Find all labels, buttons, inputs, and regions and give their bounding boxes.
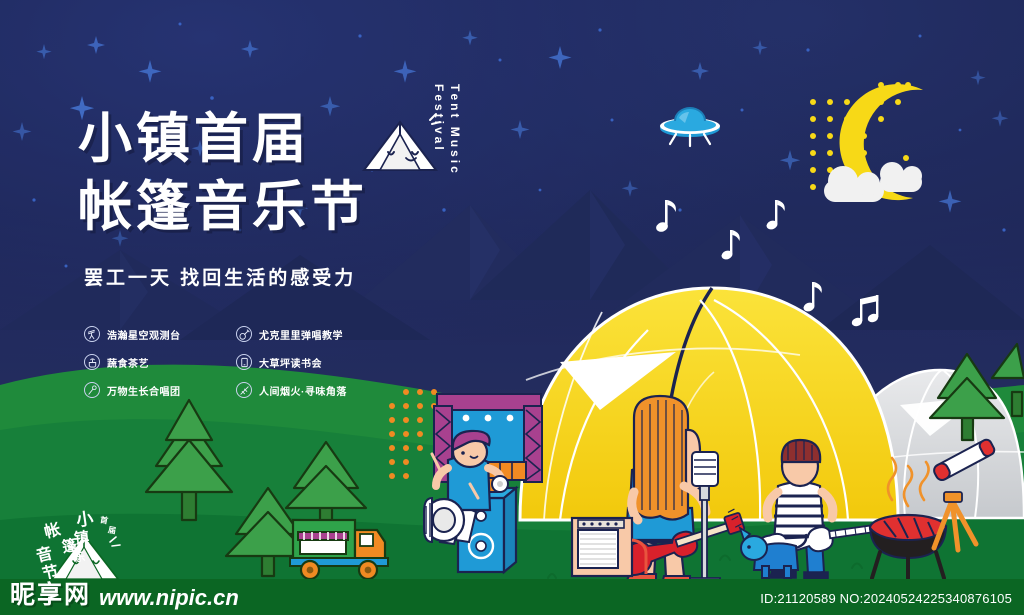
teapot-icon [84, 354, 100, 370]
feature-item-skewer: 人间烟火·寻味角落 [236, 376, 388, 404]
feature-item-ukulele: 尤克里里弹唱教学 [236, 320, 388, 348]
feature-label: 人间烟火·寻味角落 [259, 383, 347, 398]
ufo-icon [660, 107, 720, 146]
poster-title: 小镇首届 帐篷音乐节 [78, 108, 368, 238]
feature-label: 浩瀚星空观测台 [107, 327, 181, 342]
watermark-url: www.nipic.cn [99, 585, 239, 611]
feature-item-book: 大草坪读书会 [236, 348, 388, 376]
watermark-brand: 昵享网 [10, 575, 91, 611]
feature-label: 大草坪读书会 [259, 355, 322, 370]
watermark: 昵享网 www.nipic.cn [10, 575, 239, 611]
vertical-en-line-1: Tent Music [448, 84, 462, 176]
image-id-number: ID:21120589 NO:20240524225340876105 [760, 591, 1012, 606]
telescope-icon [84, 326, 100, 342]
feature-item-microphone: 万物生长合唱团 [84, 376, 236, 404]
feature-item-telescope: 浩瀚星空观测台 [84, 320, 236, 348]
title-line-2: 帐篷音乐节 [78, 176, 368, 238]
vertical-en-line-2: Festival [432, 84, 446, 176]
skewer-icon [236, 382, 252, 398]
feature-item-teapot: 蔬食茶艺 [84, 348, 236, 376]
poster-subtitle: 罢工一天 找回生活的感受力 [84, 263, 356, 290]
feature-label: 万物生长合唱团 [107, 383, 181, 398]
ukulele-icon [236, 326, 252, 342]
feature-label: 蔬食茶艺 [107, 355, 149, 370]
title-line-1: 小镇首届 [78, 108, 368, 170]
cloud-icon [824, 162, 922, 202]
book-icon [236, 354, 252, 370]
feature-label: 尤克里里弹唱教学 [259, 327, 343, 342]
festival-logo-stamp: 小 首 届 镇 帐 篷 音 乐 节 [28, 501, 138, 583]
microphone-icon [84, 382, 100, 398]
feature-list: 浩瀚星空观测台 尤克里里弹唱教学 蔬食茶艺 大草坪读书会 万物生长合唱团 [84, 320, 388, 404]
logo-char-8: 乐 [73, 548, 86, 565]
scene-illustration [0, 0, 1024, 615]
vertical-english-title: Tent Music Festival [432, 84, 462, 176]
poster-canvas: 小镇首届 帐篷音乐节 罢工一天 找回生活的感受力 Tent Music Fest… [0, 0, 1024, 615]
